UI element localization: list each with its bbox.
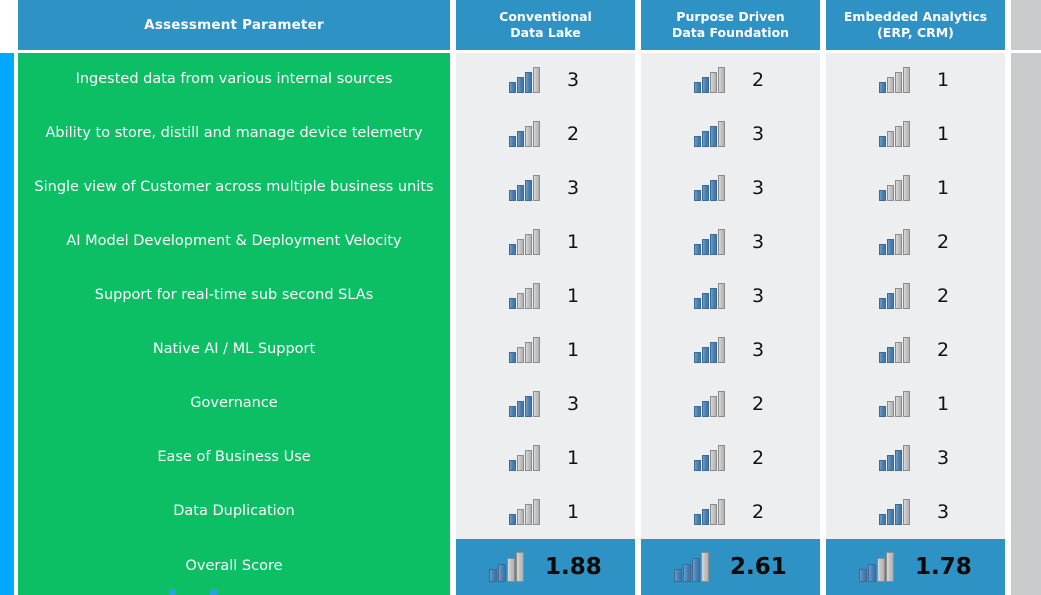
bar-segment [887, 401, 894, 417]
bar-segment [710, 504, 717, 525]
score-cell-c3: 1 [826, 161, 1005, 215]
score-content: 3 [693, 174, 768, 202]
bar-segment [718, 337, 725, 363]
bar-segment [533, 499, 540, 525]
bar-segment [694, 298, 701, 309]
score-cell-c2: 2 [641, 485, 820, 539]
score-bars-icon [693, 228, 726, 256]
bar-segment [525, 72, 532, 93]
score-bars-icon [878, 282, 911, 310]
bar-segment [903, 121, 910, 147]
score-bars-icon [508, 444, 541, 472]
bar-segment [903, 283, 910, 309]
bar-segment [879, 514, 886, 525]
column-header-label: Conventional Data Lake [499, 9, 592, 41]
row-tail-column [1011, 161, 1041, 215]
score-value: 1.88 [545, 554, 603, 580]
bar-segment [895, 504, 902, 525]
bar-segment [710, 450, 717, 471]
score-content: 1 [508, 336, 583, 364]
cutoff-dot [210, 589, 217, 595]
bar-segment [887, 77, 894, 93]
score-content: 3 [693, 120, 768, 148]
bar-segment [895, 396, 902, 417]
assessment-comparison-table: Assessment ParameterConventional Data La… [0, 0, 1041, 595]
score-cell-c3: 3 [826, 431, 1005, 485]
row-accent-bar [0, 431, 14, 485]
score-content: 1 [878, 66, 953, 94]
score-content: 1.78 [858, 551, 973, 583]
score-bars-icon [878, 228, 911, 256]
row-tail-column [1011, 53, 1041, 107]
bar-segment [692, 558, 700, 582]
score-content: 3 [693, 228, 768, 256]
score-value: 1 [567, 501, 583, 523]
bar-segment [887, 239, 894, 255]
score-value: 3 [567, 177, 583, 199]
bar-segment [525, 126, 532, 147]
score-bars-icon [878, 444, 911, 472]
score-bars-icon [508, 228, 541, 256]
bar-segment [525, 288, 532, 309]
bar-segment [718, 445, 725, 471]
row-tail-column [1011, 323, 1041, 377]
score-cell-c2: 2.61 [641, 539, 820, 595]
bar-segment [859, 569, 867, 582]
table-row: Ability to store, distill and manage dev… [0, 107, 1041, 161]
bar-segment [702, 131, 709, 147]
score-value: 1 [937, 393, 953, 415]
score-value: 1 [567, 285, 583, 307]
score-content: 3 [508, 66, 583, 94]
bar-segment [533, 229, 540, 255]
score-value: 3 [752, 123, 768, 145]
score-cell-c2: 3 [641, 215, 820, 269]
score-value: 3 [567, 393, 583, 415]
score-value: 2.61 [730, 554, 788, 580]
bar-segment [509, 136, 516, 147]
bar-segment [525, 396, 532, 417]
bar-segment [683, 564, 691, 582]
bar-segment [517, 401, 524, 417]
row-parameter-label: AI Model Development & Deployment Veloci… [18, 215, 450, 269]
column-header-label: Embedded Analytics (ERP, CRM) [844, 9, 987, 41]
score-cell-c3: 2 [826, 323, 1005, 377]
score-value: 3 [752, 339, 768, 361]
bar-segment [710, 234, 717, 255]
score-content: 3 [693, 336, 768, 364]
bar-segment [517, 77, 524, 93]
bar-segment [517, 509, 524, 525]
column-header-2[interactable]: Purpose Driven Data Foundation [641, 0, 820, 50]
bar-segment [694, 406, 701, 417]
bar-segment [879, 82, 886, 93]
score-value: 3 [752, 231, 768, 253]
row-tail-column [1011, 431, 1041, 485]
row-accent-bar [0, 107, 14, 161]
bar-segment [895, 126, 902, 147]
score-content: 2 [878, 336, 953, 364]
bar-segment [895, 288, 902, 309]
bar-segment [509, 190, 516, 201]
score-content: 3 [508, 390, 583, 418]
score-bars-icon [858, 551, 895, 583]
score-bars-icon [693, 390, 726, 418]
score-bars-icon [693, 336, 726, 364]
score-cell-c3: 2 [826, 269, 1005, 323]
row-parameter-label: Ingested data from various internal sour… [18, 53, 450, 107]
bar-segment [533, 445, 540, 471]
score-content: 1 [878, 174, 953, 202]
bar-segment [718, 121, 725, 147]
score-bars-icon [508, 498, 541, 526]
score-cell-c3: 1 [826, 377, 1005, 431]
bar-segment [903, 499, 910, 525]
row-accent-bar [0, 485, 14, 539]
score-cell-c2: 3 [641, 107, 820, 161]
score-bars-icon [508, 282, 541, 310]
bar-segment [718, 391, 725, 417]
row-parameter-label: Native AI / ML Support [18, 323, 450, 377]
bar-segment [702, 77, 709, 93]
bar-segment [533, 121, 540, 147]
row-accent-bar [0, 53, 14, 107]
bar-segment [895, 342, 902, 363]
row-accent-bar [0, 215, 14, 269]
bar-segment [517, 455, 524, 471]
bar-segment [895, 450, 902, 471]
score-value: 2 [937, 285, 953, 307]
table-grid: Assessment ParameterConventional Data La… [0, 0, 1041, 595]
score-content: 2 [878, 282, 953, 310]
bar-segment [509, 244, 516, 255]
score-bars-icon [878, 390, 911, 418]
bar-segment [674, 569, 682, 582]
score-bars-icon [878, 498, 911, 526]
bar-segment [879, 460, 886, 471]
score-value: 2 [752, 501, 768, 523]
row-parameter-label: Overall Score [18, 539, 450, 595]
row-parameter-label: Data Duplication [18, 485, 450, 539]
cutoff-markers [0, 589, 1041, 595]
score-cell-c2: 3 [641, 161, 820, 215]
column-header-3[interactable]: Embedded Analytics (ERP, CRM) [826, 0, 1005, 50]
bar-segment [517, 347, 524, 363]
score-content: 3 [878, 444, 953, 472]
row-tail-column [1011, 485, 1041, 539]
score-content: 1 [508, 444, 583, 472]
bar-segment [533, 283, 540, 309]
score-bars-icon [488, 551, 525, 583]
bar-segment [903, 229, 910, 255]
bar-segment [895, 72, 902, 93]
bar-segment [517, 239, 524, 255]
score-value: 1 [937, 123, 953, 145]
bar-segment [702, 239, 709, 255]
score-value: 3 [752, 177, 768, 199]
bar-segment [887, 509, 894, 525]
score-value: 2 [752, 447, 768, 469]
score-value: 3 [752, 285, 768, 307]
table-row: AI Model Development & Deployment Veloci… [0, 215, 1041, 269]
table-row: Single view of Customer across multiple … [0, 161, 1041, 215]
bar-segment [886, 552, 894, 582]
score-value: 1 [937, 177, 953, 199]
overall-score-row: Overall Score1.882.611.78 [0, 539, 1041, 595]
score-cell-c1: 1.88 [456, 539, 635, 595]
bar-segment [509, 298, 516, 309]
score-content: 2 [693, 498, 768, 526]
score-value: 3 [937, 501, 953, 523]
bar-segment [498, 564, 506, 582]
bar-segment [710, 342, 717, 363]
bar-segment [887, 131, 894, 147]
bar-segment [710, 180, 717, 201]
score-value: 2 [937, 231, 953, 253]
score-cell-c1: 1 [456, 215, 635, 269]
score-value: 1 [937, 69, 953, 91]
score-content: 1 [508, 228, 583, 256]
score-bars-icon [693, 174, 726, 202]
score-cell-c1: 1 [456, 323, 635, 377]
bar-segment [879, 244, 886, 255]
bar-segment [895, 180, 902, 201]
score-cell-c1: 3 [456, 161, 635, 215]
bar-segment [517, 185, 524, 201]
score-value: 1.78 [915, 554, 973, 580]
bar-segment [525, 180, 532, 201]
row-accent-bar [0, 161, 14, 215]
bar-segment [525, 342, 532, 363]
bar-segment [887, 293, 894, 309]
bar-segment [887, 185, 894, 201]
score-cell-c1: 1 [456, 431, 635, 485]
bar-segment [509, 82, 516, 93]
score-bars-icon [508, 336, 541, 364]
score-content: 1 [878, 120, 953, 148]
score-cell-c2: 2 [641, 53, 820, 107]
table-row: Support for real-time sub second SLAs132 [0, 269, 1041, 323]
score-value: 2 [752, 393, 768, 415]
score-content: 1 [878, 390, 953, 418]
bar-segment [509, 460, 516, 471]
bar-segment [701, 552, 709, 582]
score-value: 3 [937, 447, 953, 469]
row-parameter-label: Single view of Customer across multiple … [18, 161, 450, 215]
bar-segment [702, 509, 709, 525]
bar-segment [877, 558, 885, 582]
score-cell-c3: 3 [826, 485, 1005, 539]
bar-segment [887, 455, 894, 471]
bar-segment [718, 175, 725, 201]
row-accent-bar [0, 539, 14, 595]
score-content: 3 [878, 498, 953, 526]
score-cell-c3: 1.78 [826, 539, 1005, 595]
bar-segment [525, 450, 532, 471]
bar-segment [694, 190, 701, 201]
table-row: Ease of Business Use123 [0, 431, 1041, 485]
score-bars-icon [693, 282, 726, 310]
score-cell-c3: 1 [826, 53, 1005, 107]
row-parameter-label: Governance [18, 377, 450, 431]
score-bars-icon [878, 174, 911, 202]
score-bars-icon [878, 66, 911, 94]
bar-segment [489, 569, 497, 582]
score-value: 2 [937, 339, 953, 361]
score-bars-icon [673, 551, 710, 583]
bar-segment [694, 514, 701, 525]
score-bars-icon [508, 390, 541, 418]
bar-segment [507, 558, 515, 582]
row-tail-column [1011, 215, 1041, 269]
bar-segment [702, 401, 709, 417]
score-bars-icon [878, 336, 911, 364]
bar-segment [718, 283, 725, 309]
row-accent-bar [0, 269, 14, 323]
bar-segment [694, 136, 701, 147]
score-value: 1 [567, 231, 583, 253]
column-header-label: Purpose Driven Data Foundation [672, 9, 789, 41]
bar-segment [517, 131, 524, 147]
score-content: 2 [508, 120, 583, 148]
bar-segment [879, 190, 886, 201]
score-cell-c2: 2 [641, 431, 820, 485]
score-content: 2 [878, 228, 953, 256]
score-cell-c2: 3 [641, 269, 820, 323]
row-accent-bar [0, 323, 14, 377]
score-content: 2 [693, 444, 768, 472]
table-row: Native AI / ML Support132 [0, 323, 1041, 377]
score-bars-icon [508, 174, 541, 202]
score-bars-icon [508, 66, 541, 94]
score-value: 1 [567, 339, 583, 361]
table-row: Data Duplication123 [0, 485, 1041, 539]
score-bars-icon [693, 66, 726, 94]
score-cell-c1: 3 [456, 53, 635, 107]
row-tail-column [1011, 377, 1041, 431]
bar-segment [533, 67, 540, 93]
bar-segment [903, 67, 910, 93]
cutoff-dot [169, 589, 176, 595]
score-cell-c1: 3 [456, 377, 635, 431]
row-tail-column [1011, 539, 1041, 595]
score-bars-icon [508, 120, 541, 148]
score-value: 3 [567, 69, 583, 91]
table-header-row: Assessment ParameterConventional Data La… [0, 0, 1041, 50]
table-row: Ingested data from various internal sour… [0, 53, 1041, 107]
bar-segment [525, 504, 532, 525]
score-cell-c3: 1 [826, 107, 1005, 161]
score-cell-c2: 2 [641, 377, 820, 431]
bar-segment [710, 396, 717, 417]
row-parameter-label: Support for real-time sub second SLAs [18, 269, 450, 323]
score-bars-icon [693, 444, 726, 472]
score-content: 1 [508, 498, 583, 526]
bar-segment [718, 229, 725, 255]
bar-segment [517, 293, 524, 309]
bar-segment [525, 234, 532, 255]
bar-segment [702, 347, 709, 363]
bar-segment [868, 564, 876, 582]
bar-segment [509, 514, 516, 525]
bar-segment [509, 406, 516, 417]
bar-segment [710, 126, 717, 147]
score-cell-c1: 2 [456, 107, 635, 161]
header-tail-column [1011, 0, 1041, 50]
bar-segment [694, 82, 701, 93]
column-header-parameter[interactable]: Assessment Parameter [18, 0, 450, 50]
bar-segment [895, 234, 902, 255]
bar-segment [903, 337, 910, 363]
score-content: 2 [693, 390, 768, 418]
bar-segment [694, 352, 701, 363]
score-value: 2 [752, 69, 768, 91]
bar-segment [533, 337, 540, 363]
bar-segment [879, 352, 886, 363]
score-value: 2 [567, 123, 583, 145]
row-accent-bar [0, 377, 14, 431]
score-cell-c1: 1 [456, 269, 635, 323]
score-bars-icon [693, 498, 726, 526]
score-content: 3 [693, 282, 768, 310]
row-parameter-label: Ability to store, distill and manage dev… [18, 107, 450, 161]
score-cell-c2: 3 [641, 323, 820, 377]
bar-segment [879, 298, 886, 309]
bar-segment [718, 67, 725, 93]
bar-segment [694, 460, 701, 471]
score-content: 3 [508, 174, 583, 202]
bar-segment [879, 136, 886, 147]
bar-segment [509, 352, 516, 363]
bar-segment [533, 175, 540, 201]
bar-segment [903, 175, 910, 201]
bar-segment [710, 288, 717, 309]
bar-segment [879, 406, 886, 417]
table-row: Governance321 [0, 377, 1041, 431]
score-content: 2 [693, 66, 768, 94]
score-content: 1.88 [488, 551, 603, 583]
column-header-1[interactable]: Conventional Data Lake [456, 0, 635, 50]
score-content: 1 [508, 282, 583, 310]
score-bars-icon [878, 120, 911, 148]
bar-segment [694, 244, 701, 255]
row-parameter-label: Ease of Business Use [18, 431, 450, 485]
bar-segment [702, 293, 709, 309]
score-bars-icon [693, 120, 726, 148]
score-cell-c3: 2 [826, 215, 1005, 269]
bar-segment [887, 347, 894, 363]
score-value: 1 [567, 447, 583, 469]
bar-segment [702, 455, 709, 471]
bar-segment [533, 391, 540, 417]
bar-segment [903, 391, 910, 417]
row-tail-column [1011, 107, 1041, 161]
score-cell-c1: 1 [456, 485, 635, 539]
header-left-pad [0, 0, 18, 50]
bar-segment [516, 552, 524, 582]
bar-segment [702, 185, 709, 201]
score-content: 2.61 [673, 551, 788, 583]
bar-segment [903, 445, 910, 471]
row-tail-column [1011, 269, 1041, 323]
bar-segment [718, 499, 725, 525]
bar-segment [710, 72, 717, 93]
